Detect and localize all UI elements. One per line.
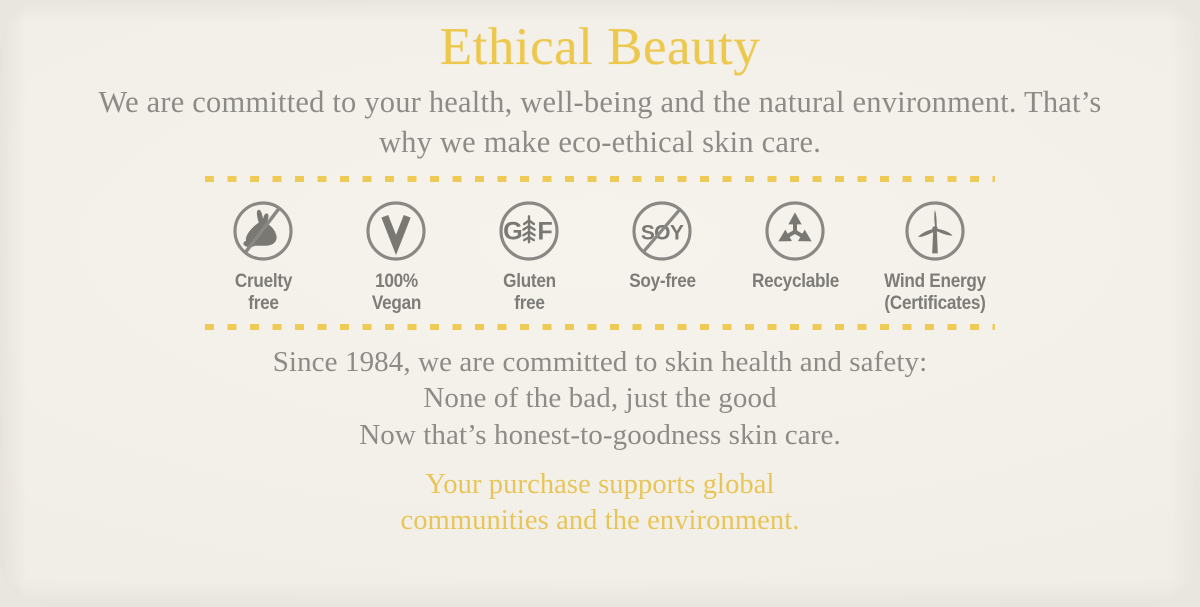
closing-line-1: Your purchase supports global (150, 467, 1050, 503)
wind-turbine-icon (900, 196, 970, 266)
svg-text:F: F (537, 218, 552, 246)
gluten-free-icon: G F (494, 196, 564, 266)
svg-text:SOY: SOY (641, 222, 684, 245)
badge-cruelty-free: Cruelty free (197, 196, 330, 315)
badge-label: 100% Vegan (337, 271, 454, 315)
since-line-3: Now that’s honest-to-goodness skin care. (110, 417, 1090, 454)
intro-paragraph: We are committed to your health, well-be… (73, 83, 1128, 162)
badge-label: Gluten free (470, 271, 587, 315)
since-line-2: None of the bad, just the good (110, 380, 1090, 417)
badge-label: Cruelty free (204, 271, 321, 315)
badge-wind-energy: Wind Energy (Certificates) (862, 196, 1008, 315)
page-title: Ethical Beauty (0, 0, 1200, 74)
no-soy-icon: SOY (627, 196, 697, 266)
badge-soy-free: SOY Soy-free (596, 196, 729, 293)
badge-recyclable: Recyclable (729, 196, 862, 293)
closing-statement: Your purchase supports global communitie… (150, 467, 1050, 539)
vegan-v-icon (361, 196, 431, 266)
badge-vegan: 100% Vegan (330, 196, 463, 315)
badge-label: Wind Energy (Certificates) (870, 271, 998, 315)
badge-label: Recyclable (736, 271, 853, 293)
svg-text:G: G (503, 218, 523, 246)
certification-badge-row: Cruelty free 100% Vegan G F (0, 196, 1200, 315)
since-line-1: Since 1984, we are committed to skin hea… (110, 344, 1090, 381)
since-statement: Since 1984, we are committed to skin hea… (110, 344, 1090, 454)
ethical-beauty-panel: Ethical Beauty We are committed to your … (0, 0, 1200, 607)
dashed-divider-top (205, 175, 995, 182)
badge-gluten-free: G F Gluten free (463, 196, 596, 315)
panel-content: Ethical Beauty We are committed to your … (0, 0, 1200, 607)
badge-label: Soy-free (603, 271, 720, 293)
closing-line-2: communities and the environment. (150, 503, 1050, 539)
dashed-divider-bottom (205, 324, 995, 331)
recycle-icon (760, 196, 830, 266)
no-rabbit-icon (228, 196, 298, 266)
